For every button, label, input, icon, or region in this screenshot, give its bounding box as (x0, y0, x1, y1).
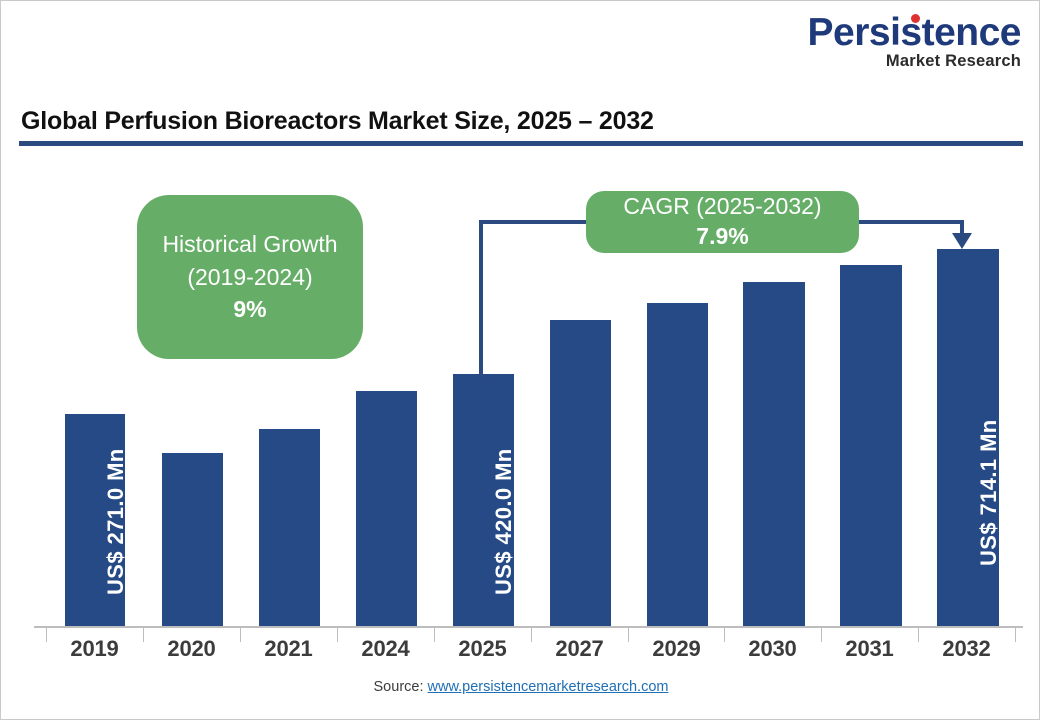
callout-cagr-value: 7.9% (696, 222, 748, 252)
connector-2025-vertical (479, 220, 483, 378)
bar-2027 (550, 320, 611, 626)
bar-value-label-2032: US$ 714.1 Mn (976, 419, 1002, 566)
callout-historical-growth: Historical Growth (2019-2024) 9% (137, 195, 363, 359)
connector-arrow-icon (952, 233, 972, 249)
source-line: Source: www.persistencemarketresearch.co… (1, 679, 1040, 695)
x-axis-label-2019: 2019 (46, 636, 143, 662)
x-axis-label-2021: 2021 (240, 636, 337, 662)
logo-tagline: Market Research (808, 53, 1021, 70)
chart-page: Persistence Market Research Global Perfu… (0, 0, 1040, 720)
bar-2019 (65, 414, 125, 626)
x-axis-label-2032: 2032 (918, 636, 1015, 662)
x-axis-label-2027: 2027 (531, 636, 628, 662)
connector-2025-horizontal (479, 220, 601, 224)
callout-historical-value: 9% (233, 293, 266, 326)
source-link[interactable]: www.persistencemarketresearch.com (428, 679, 669, 695)
callout-historical-line1: Historical Growth (162, 228, 337, 261)
callout-cagr: CAGR (2025-2032) 7.9% (586, 191, 859, 253)
x-axis-label-2030: 2030 (724, 636, 821, 662)
callout-cagr-line1: CAGR (2025-2032) (623, 192, 821, 222)
bar-2024 (356, 391, 417, 626)
bar-2025 (453, 374, 514, 626)
bar-2020 (162, 453, 223, 626)
connector-2032-horizontal (856, 220, 964, 224)
bar-2021 (259, 429, 320, 626)
x-axis-label-2024: 2024 (337, 636, 434, 662)
title-underline (19, 141, 1023, 146)
callout-historical-line2: (2019-2024) (187, 261, 312, 294)
logo-dot-icon (911, 14, 920, 23)
source-prefix: Source: (374, 679, 428, 695)
company-logo: Persistence Market Research (808, 13, 1021, 70)
bar-2029 (647, 303, 708, 626)
bar-2032 (937, 249, 999, 626)
x-axis-label-2025: 2025 (434, 636, 531, 662)
bar-value-label-2019: US$ 271.0 Mn (103, 448, 129, 595)
x-axis-line (34, 626, 1023, 628)
bar-value-label-2025: US$ 420.0 Mn (491, 448, 517, 595)
logo-brand-text: Persistence (808, 13, 1021, 52)
page-title: Global Perfusion Bioreactors Market Size… (21, 107, 654, 136)
x-axis-tick (1015, 626, 1016, 642)
bar-2030 (743, 282, 805, 626)
bar-2031 (840, 265, 902, 626)
x-axis-label-2020: 2020 (143, 636, 240, 662)
x-axis-label-2029: 2029 (628, 636, 725, 662)
x-axis-label-2031: 2031 (821, 636, 918, 662)
